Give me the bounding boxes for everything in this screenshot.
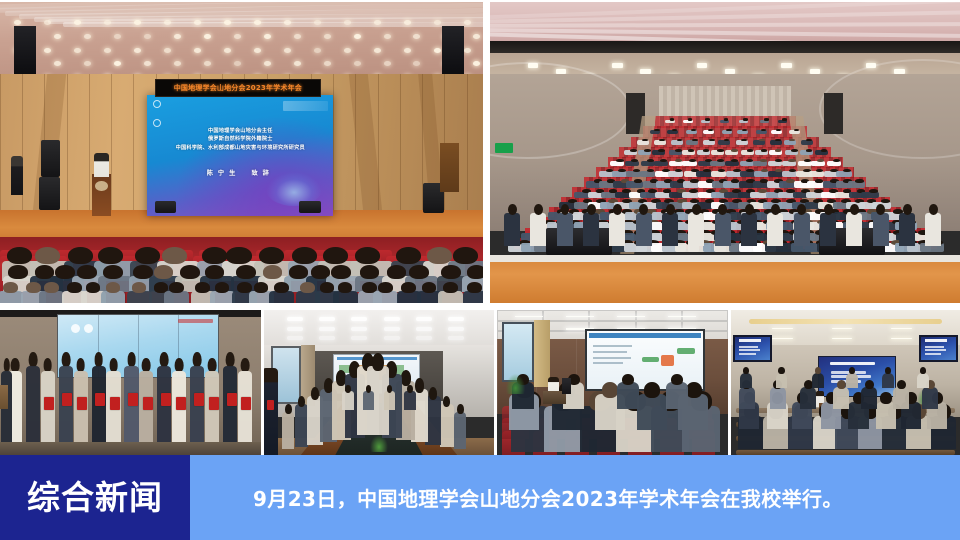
photo-roundtable-meeting[interactable]: [264, 310, 494, 455]
ceiling: [0, 2, 483, 83]
photo-main-auditorium-opening[interactable]: 中国地理学会山地分会主任 俄罗斯自然科学院外籍院士 中国科学院、水利部成都山地灾…: [0, 2, 483, 303]
foreground-audience: [0, 237, 483, 303]
screen-line-1: 中国地理学会山地分会主任: [147, 127, 333, 136]
screen-affiliation-lines: 中国地理学会山地分会主任 俄罗斯自然科学院外籍院士 中国科学院、水利部成都山地灾…: [147, 127, 333, 153]
ceiling: [264, 310, 494, 348]
projector-screen: [585, 329, 705, 391]
led-title-text: 中国地理学会山地分会2023年学术年会: [174, 83, 302, 93]
podium: [92, 174, 111, 216]
news-category-label: 综合新闻: [27, 481, 163, 514]
photo-seminar-hall-session[interactable]: [731, 310, 960, 455]
news-collage-page: 中国地理学会山地分会主任 俄罗斯自然科学院外籍院士 中国科学院、水利部成都山地灾…: [0, 0, 960, 540]
screen-logo-icon: [153, 100, 170, 112]
side-monitor-left: [733, 335, 772, 363]
photo-collage: 中国地理学会山地分会主任 俄罗斯自然科学院外籍院士 中国科学院、水利部成都山地灾…: [0, 0, 960, 455]
caption-text: 9月23日，中国地理学会山地分会2023年学术年会在我校举行。: [253, 483, 843, 512]
screen-corner-mark: [283, 101, 328, 111]
photo-academic-presentation[interactable]: [497, 310, 728, 455]
caption-text-area: 9月23日，中国地理学会山地分会2023年学术年会在我校举行。: [190, 455, 960, 540]
photo-award-group[interactable]: [0, 310, 261, 455]
stage-apron: [490, 255, 960, 303]
screen-line-2: 俄罗斯自然科学院外籍院士: [147, 135, 333, 144]
news-category-tag[interactable]: 综合新闻: [0, 455, 190, 540]
caption-bar: 综合新闻 9月23日，中国地理学会山地分会2023年学术年会在我校举行。: [0, 455, 960, 540]
screen-line-3: 中国科学院、水利部成都山地灾害与环境研究所研究员: [147, 144, 333, 153]
screen-red-tag: [178, 319, 213, 323]
side-monitor-right: [919, 335, 958, 363]
led-title-banner: 中国地理学会山地分会2023年学术年会: [155, 79, 322, 98]
speaker-at-podium: [94, 153, 108, 177]
ceiling-cove-light: [749, 319, 941, 325]
curtain: [534, 320, 550, 387]
screen-speaker-name: 陈宁生 致辞: [147, 168, 333, 177]
floor: [0, 442, 261, 455]
photo-packed-auditorium[interactable]: [490, 2, 960, 303]
attendant-standing-left: [11, 156, 24, 195]
led-presentation-screen: 中国地理学会山地分会主任 俄罗斯自然科学院外籍院士 中国科学院、水利部成都山地灾…: [147, 95, 333, 215]
